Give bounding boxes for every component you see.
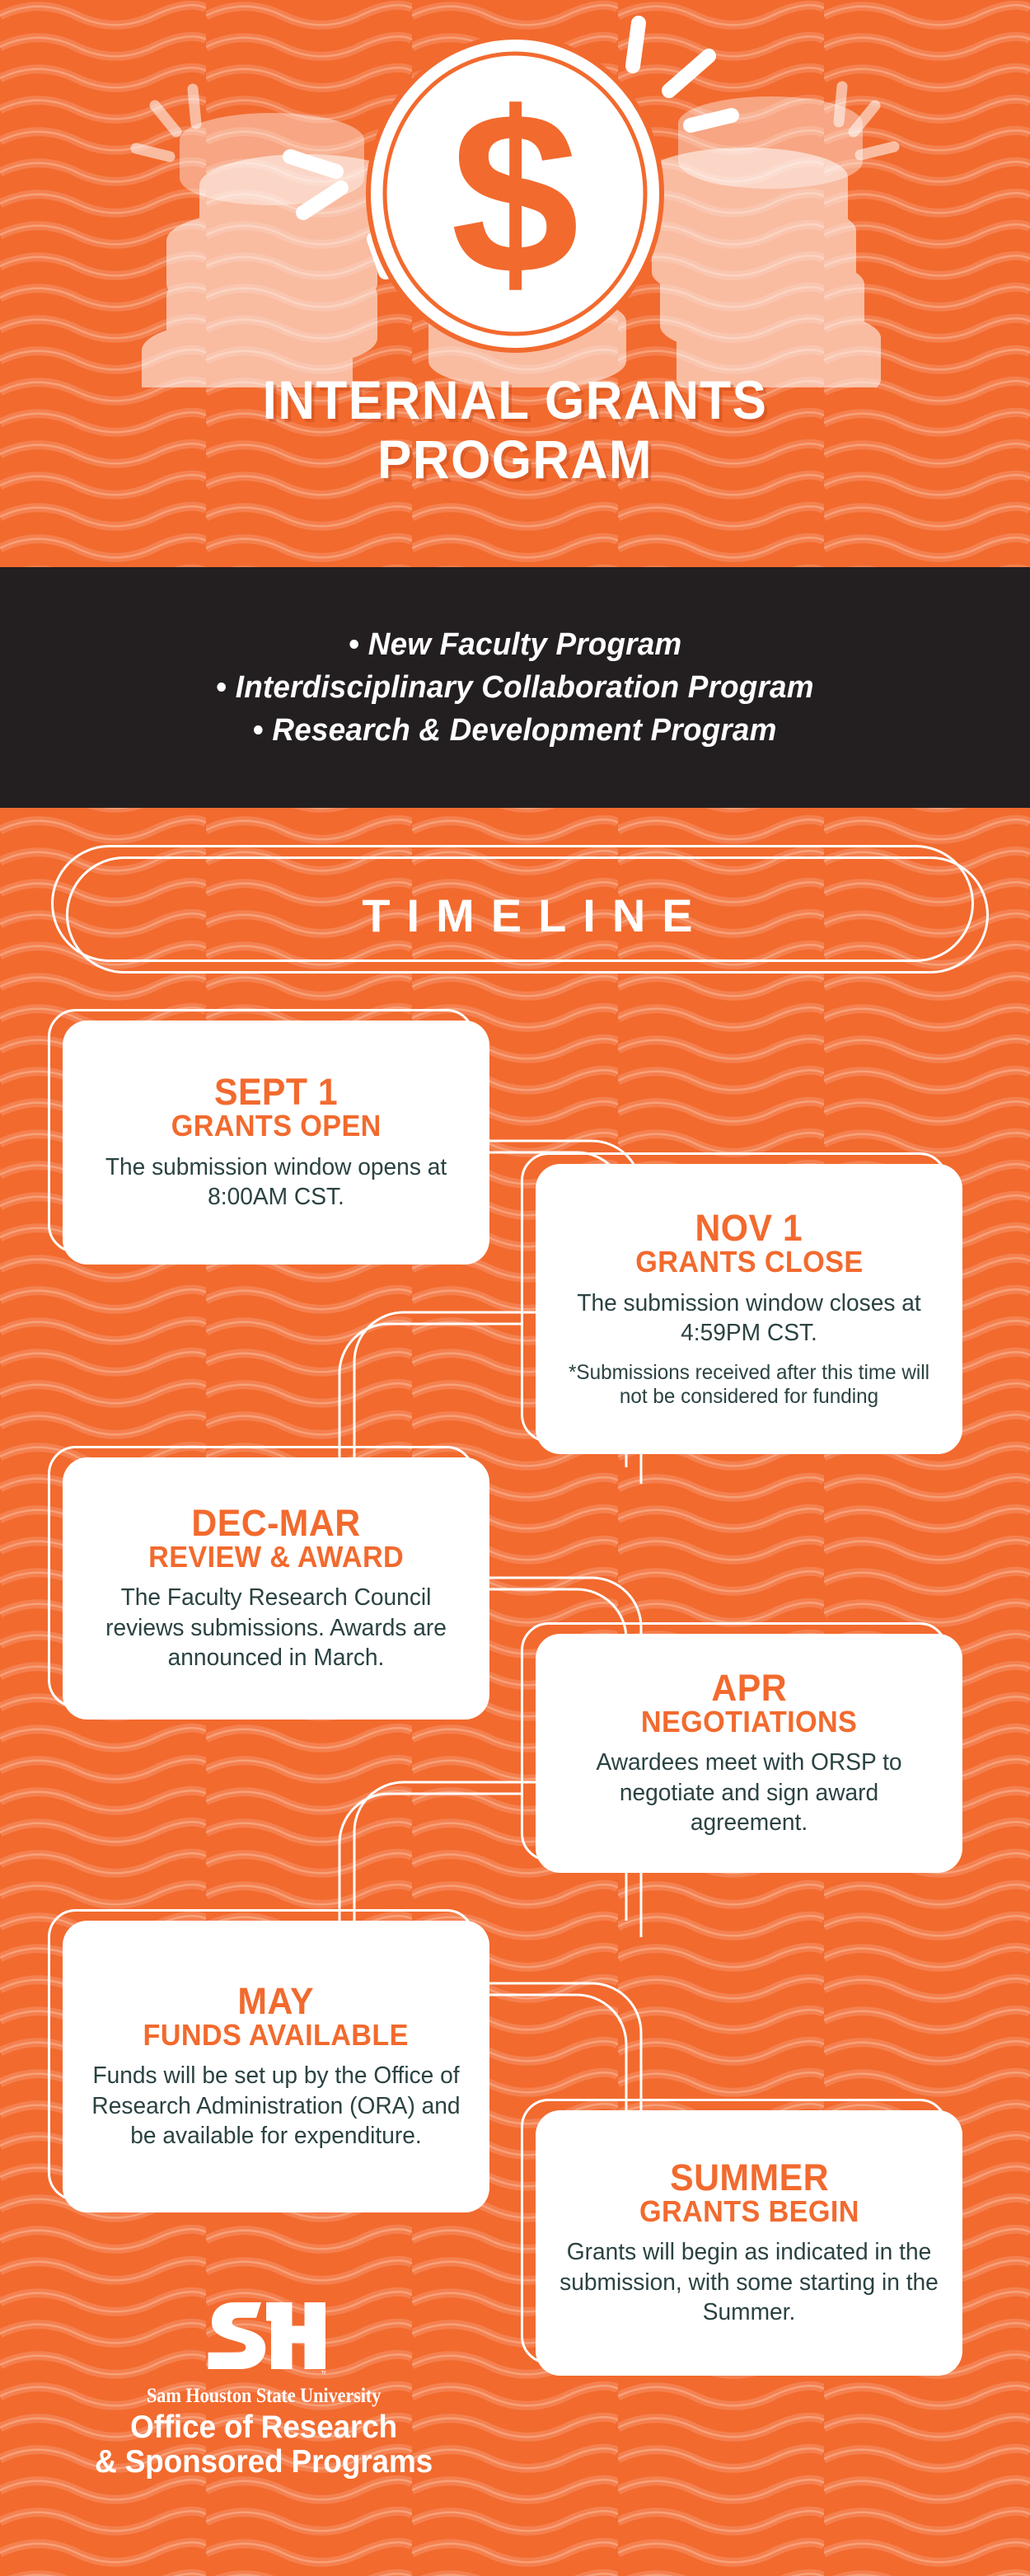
card-body: Awardees meet with ORSP to negotiate and… (559, 1748, 939, 1837)
office-line-1: Office of Research (130, 2409, 397, 2445)
card-panel: SEPT 1 GRANTS OPEN The submission window… (63, 1021, 489, 1265)
card-subtitle: GRANTS BEGIN (639, 2196, 859, 2227)
card-subtitle: REVIEW & AWARD (148, 1541, 404, 1573)
card-subtitle: GRANTS CLOSE (635, 1246, 863, 1278)
card-date: SUMMER (670, 2159, 829, 2197)
card-date: DEC-MAR (191, 1504, 360, 1542)
timeline-card-may: MAY FUNDS AVAILABLE Funds will be set up… (63, 1921, 489, 2212)
card-date: MAY (238, 1982, 315, 2020)
card-panel: MAY FUNDS AVAILABLE Funds will be set up… (63, 1921, 489, 2212)
footer-logo-block: ™ Sam Houston State University Office of… (66, 2300, 461, 2480)
infographic-poster: $ INTERNAL GRANTS PROGRAM • New Faculty … (0, 0, 1030, 2576)
card-panel: DEC-MAR REVIEW & AWARD The Faculty Resea… (63, 1457, 489, 1720)
sh-logo-icon: ™ (202, 2300, 325, 2379)
timeline-card-summer: SUMMER GRANTS BEGIN Grants will begin as… (536, 2110, 962, 2376)
card-date: APR (711, 1669, 787, 1707)
timeline-card-sept: SEPT 1 GRANTS OPEN The submission window… (63, 1021, 489, 1265)
timeline-card-dec-mar: DEC-MAR REVIEW & AWARD The Faculty Resea… (63, 1457, 489, 1720)
card-body: Funds will be set up by the Office of Re… (87, 2061, 466, 2151)
office-line-2: & Sponsored Programs (95, 2444, 433, 2480)
card-panel: NOV 1 GRANTS CLOSE The submission window… (536, 1164, 962, 1454)
card-date: SEPT 1 (214, 1073, 338, 1111)
card-note: *Submissions received after this time wi… (559, 1361, 939, 1409)
card-subtitle: NEGOTIATIONS (641, 1706, 857, 1738)
card-panel: SUMMER GRANTS BEGIN Grants will begin as… (536, 2110, 962, 2376)
card-body: The submission window opens at 8:00AM CS… (87, 1152, 466, 1213)
university-name: Sam Houston State University (86, 2386, 442, 2406)
card-date: NOV 1 (695, 1209, 803, 1247)
trademark-symbol: ™ (321, 2370, 325, 2379)
card-body: Grants will begin as indicated in the su… (559, 2237, 939, 2327)
card-subtitle: GRANTS OPEN (171, 1110, 381, 1142)
timeline-card-nov: NOV 1 GRANTS CLOSE The submission window… (536, 1164, 962, 1454)
card-body: The submission window closes at 4:59PM C… (559, 1288, 939, 1349)
card-panel: APR NEGOTIATIONS Awardees meet with ORSP… (536, 1634, 962, 1873)
card-subtitle: FUNDS AVAILABLE (143, 2020, 409, 2051)
timeline-card-apr: APR NEGOTIATIONS Awardees meet with ORSP… (536, 1634, 962, 1873)
office-name: Office of Research & Sponsored Programs (76, 2410, 452, 2480)
card-body: The Faculty Research Council reviews sub… (87, 1583, 466, 1673)
